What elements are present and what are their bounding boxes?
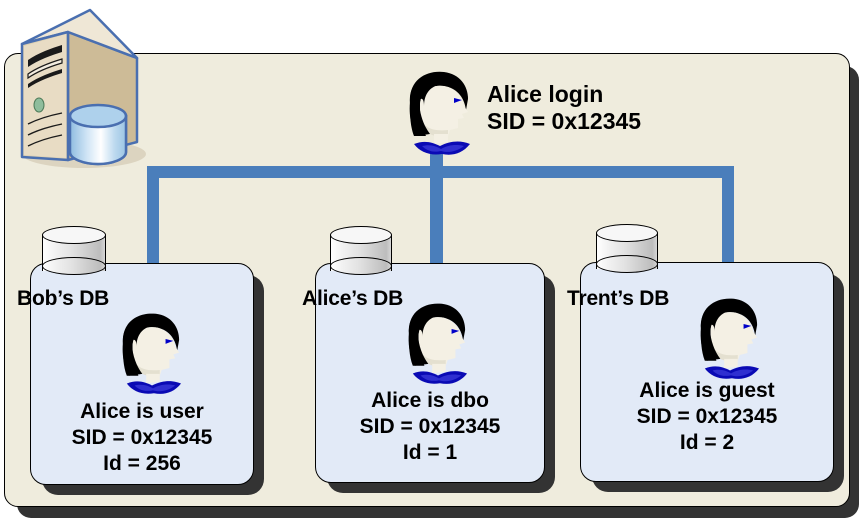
db-person-icon-1	[112, 308, 192, 400]
database-cylinder-icon-1	[42, 226, 106, 276]
db-name-label-2: Alice’s DB	[302, 287, 403, 311]
diagram-canvas: Alice login SID = 0x12345 Bob’s DB Alice…	[0, 0, 864, 529]
db-role-label-2: Alice is dbo	[316, 388, 544, 413]
db-id-label-2: Id = 1	[316, 440, 544, 465]
database-cylinder-icon-2	[330, 226, 392, 276]
db-name-label-3: Trent’s DB	[567, 287, 669, 311]
db-person-icon-3	[690, 293, 770, 385]
db-role-label-1: Alice is user	[31, 399, 253, 424]
db-id-label-3: Id = 2	[581, 430, 833, 455]
login-person-icon	[400, 66, 480, 161]
db-person-icon-2	[398, 298, 478, 390]
connector-drop-right	[722, 166, 734, 277]
db-id-label-1: Id = 256	[31, 451, 253, 476]
server-tower-icon	[6, 2, 146, 172]
login-sid-label: SID = 0x12345	[487, 108, 641, 135]
db-name-label-1: Bob’s DB	[17, 287, 109, 311]
db-sid-label-2: SID = 0x12345	[316, 414, 544, 439]
db-sid-label-1: SID = 0x12345	[31, 425, 253, 450]
database-cylinder-icon-3	[596, 224, 658, 274]
login-name-label: Alice login	[487, 81, 603, 108]
db-sid-label-3: SID = 0x12345	[581, 404, 833, 429]
